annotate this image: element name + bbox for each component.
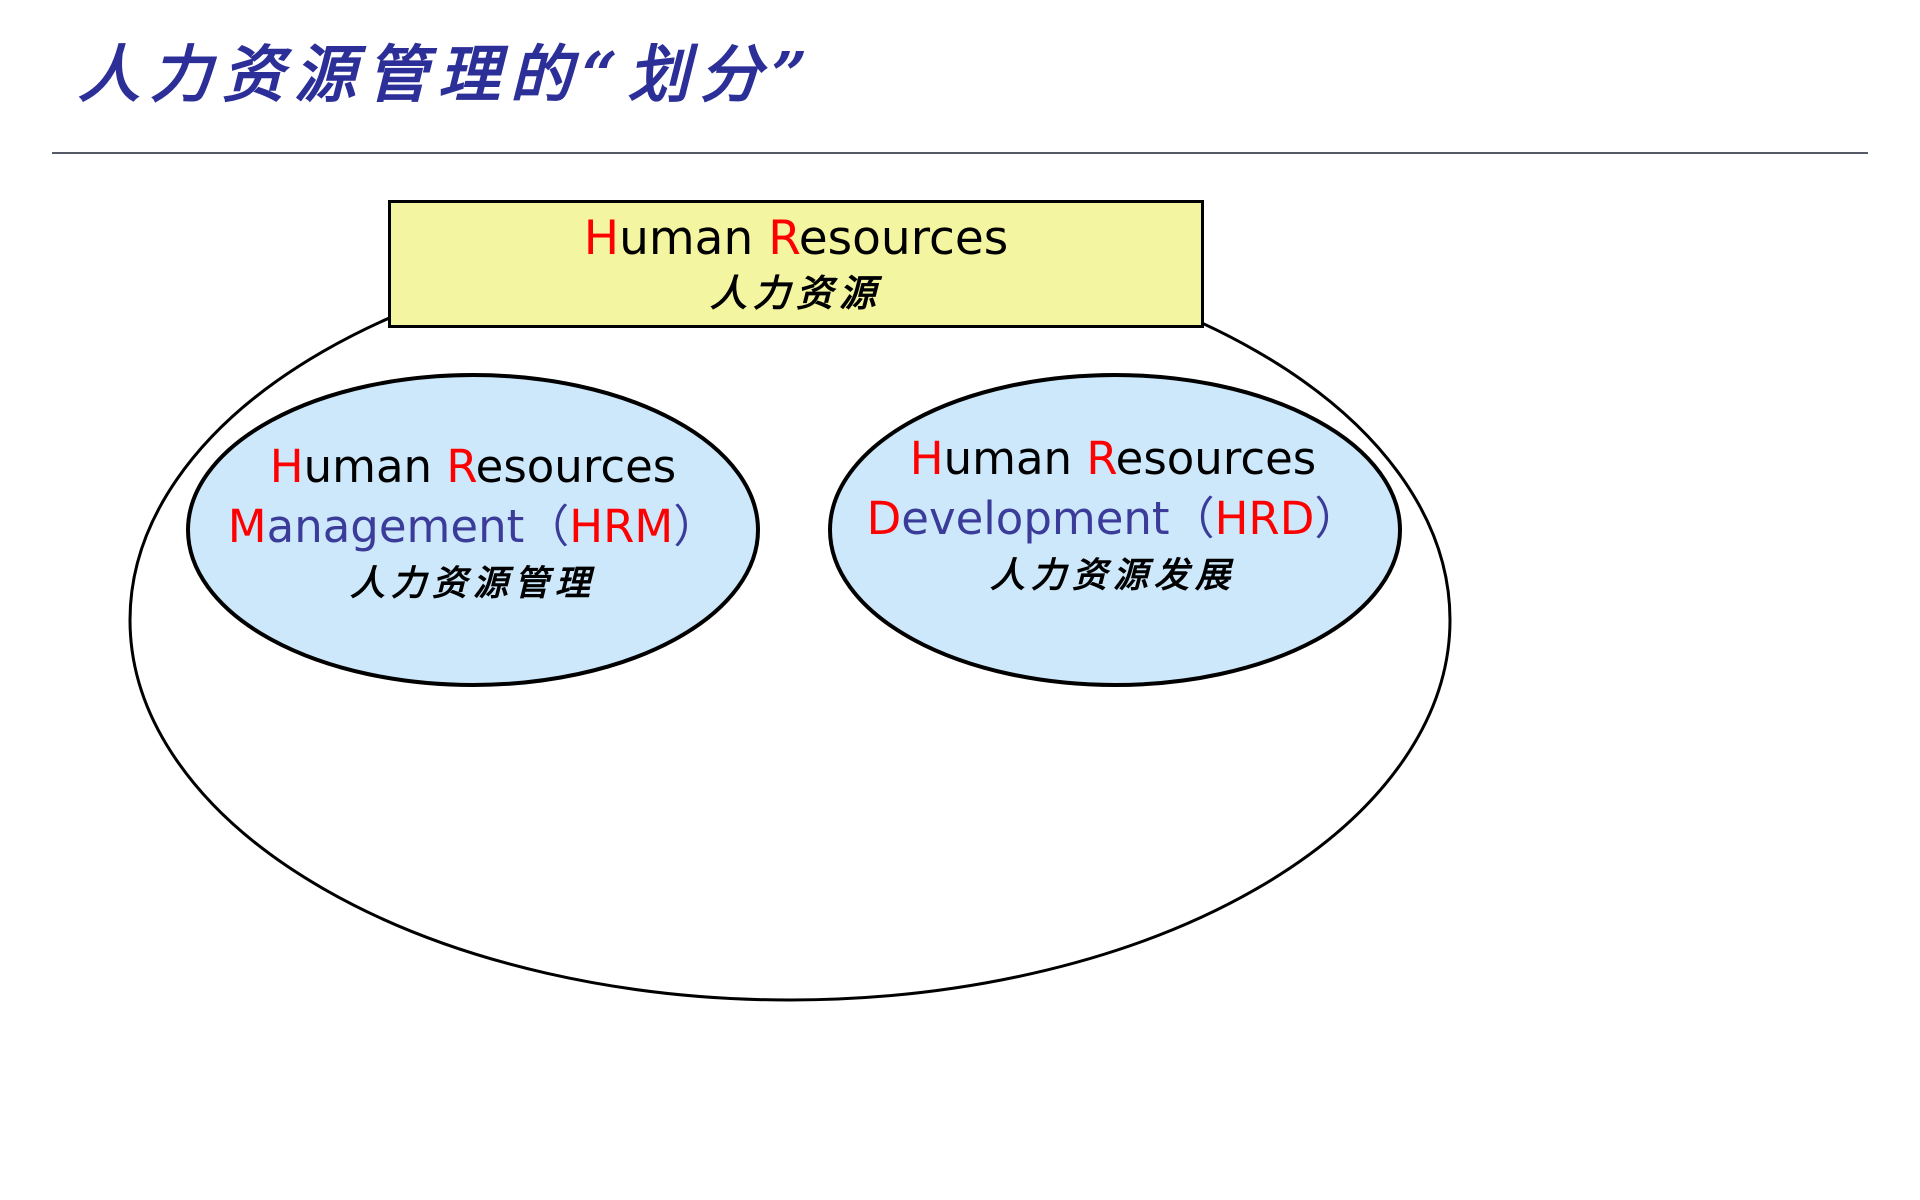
page-title: 人力资源管理的“划分” [78, 42, 817, 107]
hrd-word-esources: esources [1116, 432, 1317, 485]
human-resources-box[interactable]: Human Resources 人力资源 [388, 200, 1204, 328]
hrm-word-esources: esources [476, 440, 677, 493]
hr-division-diagram: Human Resources 人力资源 Human Resources Man… [0, 160, 1920, 1200]
hr-initial-r: R [768, 211, 799, 266]
hrd-english-line-2: Development（HRD） [828, 488, 1398, 550]
hrm-word-uman: uman [304, 440, 447, 493]
hrd-word-evelopment: evelopment [901, 492, 1169, 545]
hrm-chinese: 人力资源管理 [188, 558, 758, 610]
hrd-initial-h: H [910, 432, 944, 485]
hrm-word-anagement: anagement [267, 500, 525, 553]
hrm-english-line-1: Human Resources [188, 438, 758, 496]
hrd-chinese: 人力资源发展 [828, 550, 1398, 602]
hrm-initial-h: H [270, 440, 304, 493]
hr-box-chinese: 人力资源 [391, 267, 1201, 319]
title-divider [52, 152, 1868, 154]
hrd-word-uman: uman [944, 432, 1087, 485]
hrm-label-group[interactable]: Human Resources Management（HRM） 人力资源管理 [188, 438, 758, 610]
hrd-paren-close: ） [1314, 492, 1359, 545]
hrm-initial-m: M [228, 500, 267, 553]
hrd-abbreviation: HRD [1215, 492, 1315, 545]
hrm-paren-close: ） [673, 500, 718, 553]
hrd-paren-open: （ [1170, 492, 1215, 545]
hr-box-english: Human Resources [391, 211, 1201, 267]
hrm-abbreviation: HRM [569, 500, 673, 553]
hrd-initial-r: R [1086, 432, 1115, 485]
hrd-initial-d: D [867, 492, 902, 545]
hrm-english-line-2: Management（HRM） [188, 496, 758, 558]
hrm-initial-r: R [446, 440, 475, 493]
hr-word-uman: uman [619, 211, 768, 266]
hrd-english-line-1: Human Resources [828, 430, 1398, 488]
hr-initial-h: H [584, 211, 619, 266]
hr-word-esources: esources [799, 211, 1008, 266]
hrm-paren-open: （ [524, 500, 569, 553]
hrd-label-group[interactable]: Human Resources Development（HRD） 人力资源发展 [828, 430, 1398, 602]
